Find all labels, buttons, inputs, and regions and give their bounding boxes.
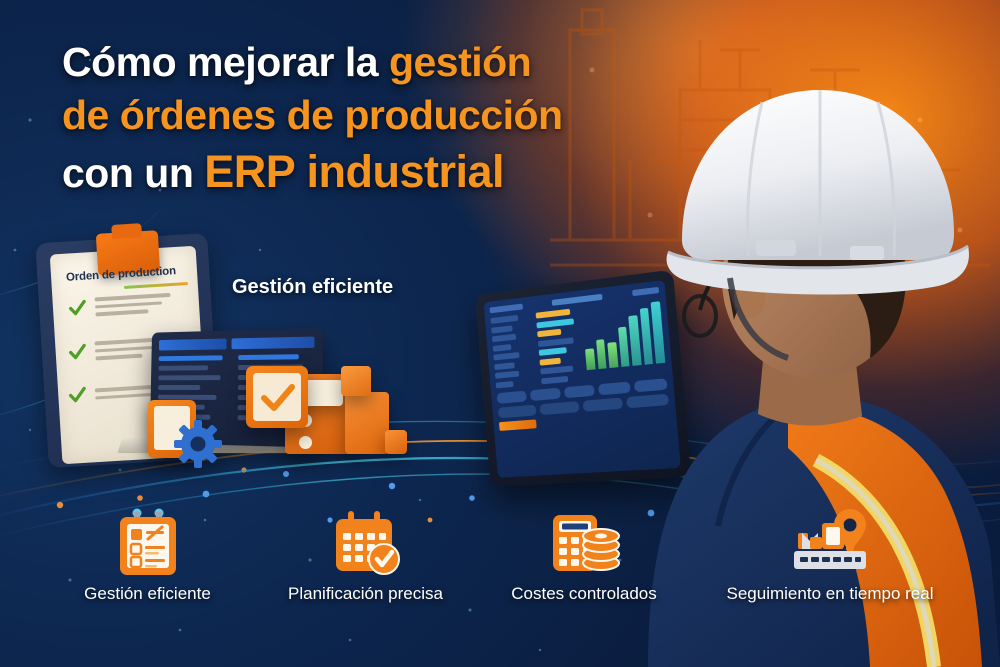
box-tiny: [385, 430, 407, 454]
clipboard-checklist-icon: [112, 507, 184, 577]
page-title: Cómo mejorar la gestión de órdenes de pr…: [62, 36, 622, 201]
headline-line3-orange: ERP industrial: [204, 146, 504, 197]
feature-label: Planificación precisa: [258, 584, 473, 604]
check-icon: [260, 382, 296, 414]
box-medium: [345, 392, 389, 454]
panel-header: [159, 337, 315, 351]
feature-item-seguimiento[interactable]: Seguimiento en tiempo real: [694, 505, 966, 604]
feature-icon-wrap: [478, 505, 690, 577]
feature-item-costes[interactable]: Costes controlados: [478, 505, 690, 604]
check-icon: [68, 386, 88, 404]
feature-icons-row: Gestión eficiente: [0, 505, 1000, 623]
feature-item-planificacion[interactable]: Planificación precisa: [258, 505, 473, 604]
feature-item-gestion[interactable]: Gestión eficiente: [40, 505, 255, 604]
calendar-check-icon: [328, 507, 404, 577]
gear-icon: [172, 418, 224, 470]
headline-line2: de órdenes de producción: [62, 92, 563, 138]
feature-label: Gestión eficiente: [40, 584, 255, 604]
headline-line3-white: con un: [62, 150, 204, 196]
feature-icon-wrap: [258, 505, 473, 577]
check-card-illustration: [246, 366, 308, 428]
factory-location-pin-icon: [788, 507, 872, 577]
check-icon: [68, 343, 88, 361]
feature-label: Costes controlados: [478, 584, 690, 604]
caption-gestion-eficiente: Gestión eficiente: [232, 276, 393, 299]
dashboard-order-rows: [535, 308, 582, 384]
dashboard-primary-button[interactable]: [499, 419, 537, 431]
feature-label: Seguimiento en tiempo real: [694, 584, 966, 604]
calculator-coins-icon: [545, 507, 623, 577]
feature-icon-wrap: [694, 505, 966, 577]
dashboard-sidebar-list: [490, 314, 535, 388]
headline-line1-orange: gestión: [389, 39, 531, 85]
banner-stage: Cómo mejorar la gestión de órdenes de pr…: [0, 0, 1000, 667]
headline-line1-white: Cómo mejorar la: [62, 39, 389, 85]
box-hole: [299, 436, 312, 449]
box-small-top: [341, 366, 371, 396]
check-icon: [68, 299, 88, 317]
feature-icon-wrap: [40, 505, 255, 577]
